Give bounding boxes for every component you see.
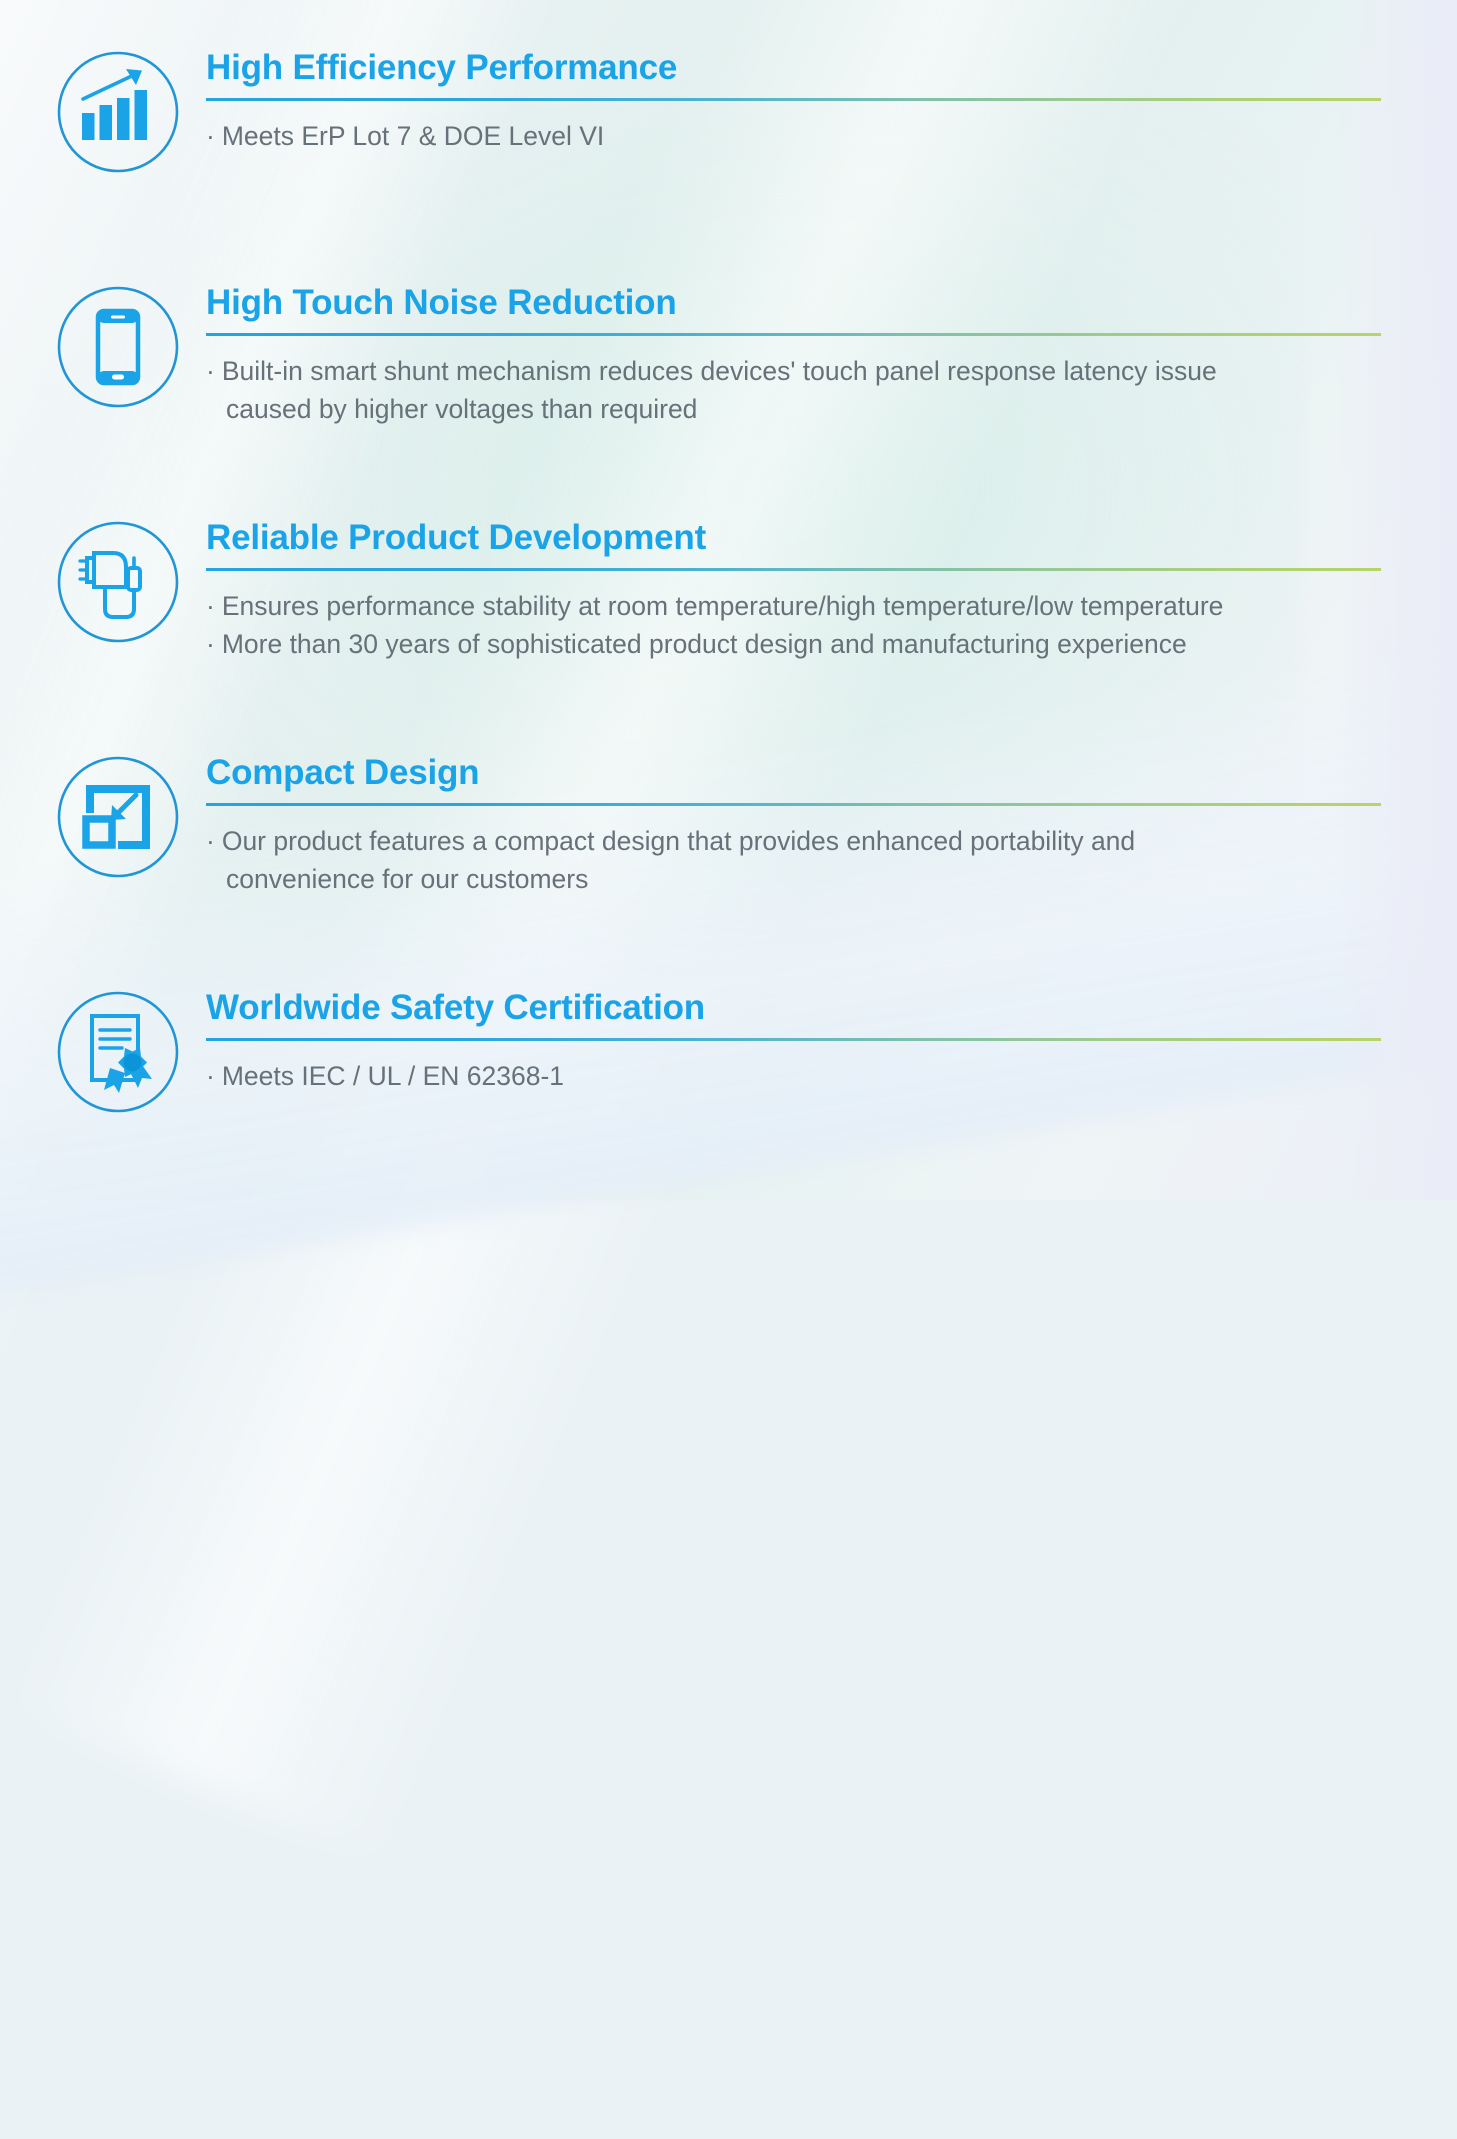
feature-row: Compact Design·Our product features a co…: [0, 755, 1457, 898]
smartphone-icon: [56, 285, 180, 409]
bullet-marker: ·: [206, 1061, 215, 1091]
feature-divider: [206, 568, 1381, 571]
feature-row: High Efficiency Performance·Meets ErP Lo…: [0, 50, 1457, 174]
feature-body: High Touch Noise Reduction·Built-in smar…: [206, 285, 1421, 428]
bullet-text: Meets IEC / UL / EN 62368-1: [222, 1061, 564, 1091]
feature-bullet: ·Meets ErP Lot 7 & DOE Level VI: [206, 118, 1421, 156]
bullet-text: Meets ErP Lot 7 & DOE Level VI: [222, 121, 604, 151]
feature-row: Reliable Product Development·Ensures per…: [0, 520, 1457, 663]
feature-title: High Efficiency Performance: [206, 50, 1421, 85]
feature-row: High Touch Noise Reduction·Built-in smar…: [0, 285, 1457, 428]
feature-title: Reliable Product Development: [206, 520, 1421, 555]
bullet-text-continuation: convenience for our customers: [206, 861, 1421, 899]
bullet-text: Our product features a compact design th…: [222, 826, 1135, 856]
feature-bullet-list: ·Ensures performance stability at room t…: [206, 588, 1421, 663]
feature-body: Compact Design·Our product features a co…: [206, 755, 1421, 898]
power-adapter-icon: [56, 520, 180, 644]
feature-row: Worldwide Safety Certification·Meets IEC…: [0, 990, 1457, 1114]
feature-divider: [206, 98, 1381, 101]
bullet-text: Built-in smart shunt mechanism reduces d…: [222, 356, 1217, 386]
feature-body: Reliable Product Development·Ensures per…: [206, 520, 1421, 663]
feature-bullet: ·Built-in smart shunt mechanism reduces …: [206, 353, 1421, 428]
feature-bullet: ·More than 30 years of sophisticated pro…: [206, 626, 1421, 664]
feature-title: High Touch Noise Reduction: [206, 285, 1421, 320]
feature-body: Worldwide Safety Certification·Meets IEC…: [206, 990, 1421, 1096]
feature-bullet: ·Our product features a compact design t…: [206, 823, 1421, 898]
bullet-text: Ensures performance stability at room te…: [222, 591, 1224, 621]
feature-divider: [206, 803, 1381, 806]
certificate-seal-icon: [56, 990, 180, 1114]
feature-divider: [206, 1038, 1381, 1041]
feature-bullet-list: ·Built-in smart shunt mechanism reduces …: [206, 353, 1421, 428]
growth-chart-icon: [56, 50, 180, 174]
feature-bullet: ·Meets IEC / UL / EN 62368-1: [206, 1058, 1421, 1096]
feature-bullet-list: ·Our product features a compact design t…: [206, 823, 1421, 898]
bullet-text-continuation: caused by higher voltages than required: [206, 391, 1421, 429]
bullet-marker: ·: [206, 121, 215, 151]
resize-compact-icon: [56, 755, 180, 879]
bullet-marker: ·: [206, 356, 215, 386]
bullet-marker: ·: [206, 826, 215, 856]
feature-list: High Efficiency Performance·Meets ErP Lo…: [0, 0, 1457, 1200]
feature-divider: [206, 333, 1381, 336]
bullet-marker: ·: [206, 629, 215, 659]
feature-body: High Efficiency Performance·Meets ErP Lo…: [206, 50, 1421, 156]
feature-bullet: ·Ensures performance stability at room t…: [206, 588, 1421, 626]
feature-bullet-list: ·Meets IEC / UL / EN 62368-1: [206, 1058, 1421, 1096]
bullet-marker: ·: [206, 591, 215, 621]
feature-title: Worldwide Safety Certification: [206, 990, 1421, 1025]
feature-bullet-list: ·Meets ErP Lot 7 & DOE Level VI: [206, 118, 1421, 156]
feature-title: Compact Design: [206, 755, 1421, 790]
bullet-text: More than 30 years of sophisticated prod…: [222, 629, 1187, 659]
